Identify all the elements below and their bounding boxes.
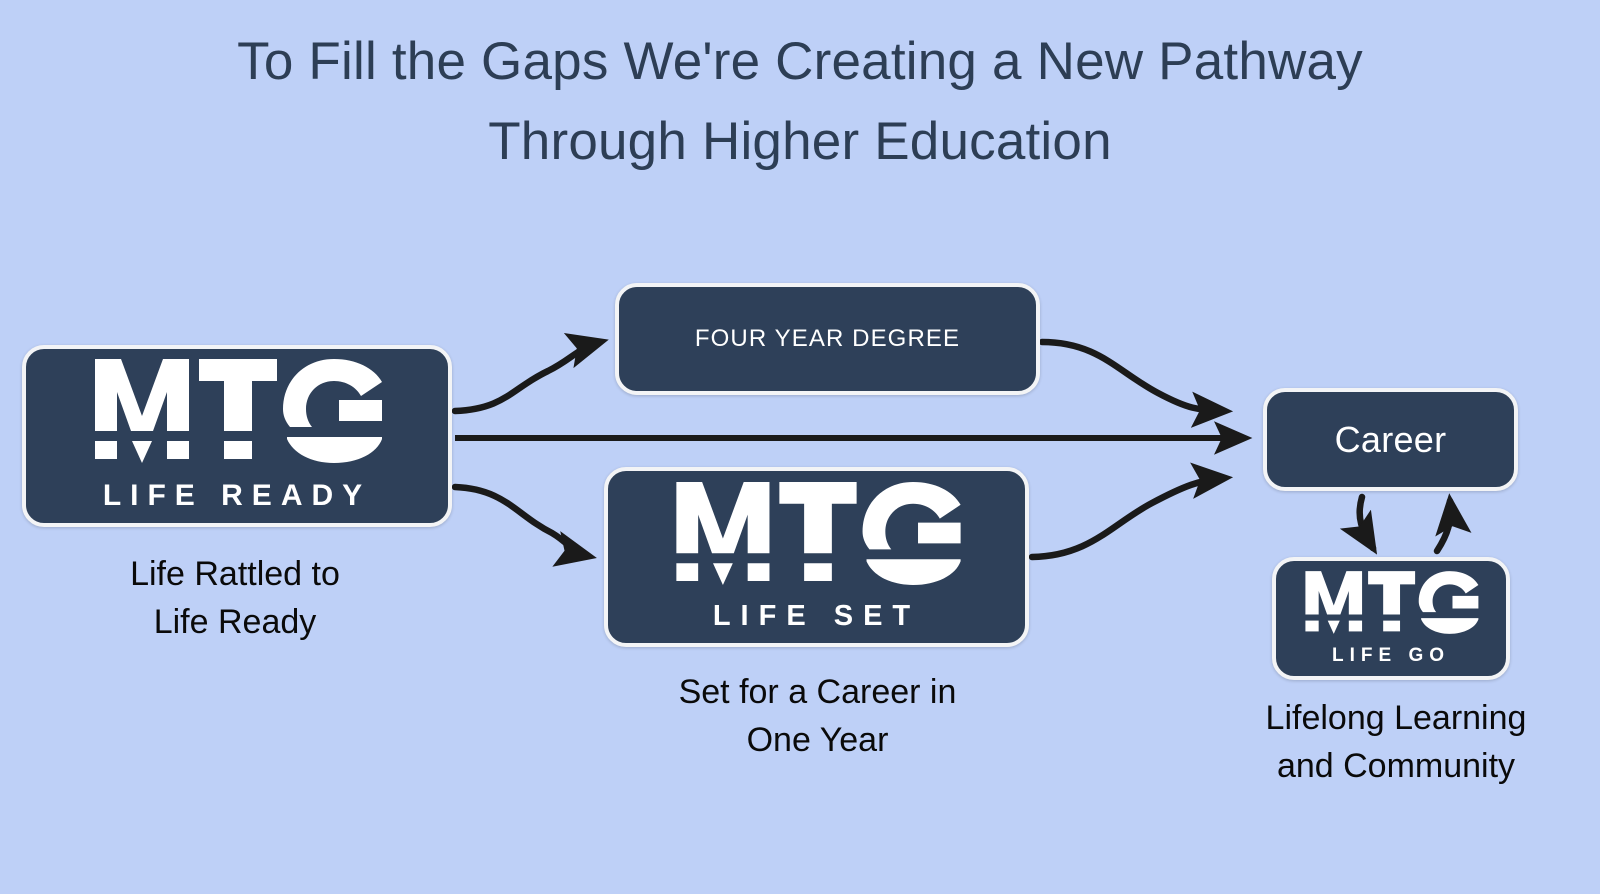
arrow-life-ready-to-degree	[455, 342, 600, 411]
caption-life-go: Lifelong Learning and Community	[1196, 694, 1596, 791]
node-career[interactable]: Career	[1263, 388, 1518, 491]
node-label-career: Career	[1335, 419, 1447, 461]
node-mtg-life-set[interactable]: LIFE SET	[604, 467, 1029, 647]
node-mtg-life-ready[interactable]: LIFE READY	[22, 345, 452, 527]
node-mtg-life-go[interactable]: LIFE GO	[1272, 557, 1510, 680]
diagram-canvas: To Fill the Gaps We're Creating a New Pa…	[0, 0, 1600, 894]
logo-tagline: LIFE SET	[713, 600, 920, 633]
mtg-logo: LIFE GO	[1303, 571, 1479, 667]
mtg-logo: LIFE READY	[91, 359, 383, 513]
caption-life-ready: Life Rattled to Life Ready	[30, 550, 440, 647]
arrow-life-ready-to-life-set	[455, 487, 588, 556]
arrow-life-set-to-career	[1032, 478, 1224, 557]
node-four-year-degree[interactable]: FOUR YEAR DEGREE	[615, 283, 1040, 395]
mtg-logo: LIFE SET	[672, 482, 962, 633]
mtg-logo-icon	[672, 482, 962, 585]
node-label-four-year-degree: FOUR YEAR DEGREE	[695, 325, 960, 353]
logo-tagline: LIFE GO	[1332, 645, 1450, 667]
logo-tagline: LIFE READY	[103, 479, 371, 513]
arrow-degree-to-career	[1042, 342, 1224, 411]
mtg-logo-icon	[1303, 571, 1479, 634]
arrow-life-go-to-career	[1437, 501, 1450, 551]
page-title: To Fill the Gaps We're Creating a New Pa…	[120, 22, 1480, 181]
arrow-career-to-life-go	[1360, 497, 1373, 548]
caption-life-set: Set for a Career in One Year	[610, 668, 1025, 765]
mtg-logo-icon	[91, 359, 383, 463]
